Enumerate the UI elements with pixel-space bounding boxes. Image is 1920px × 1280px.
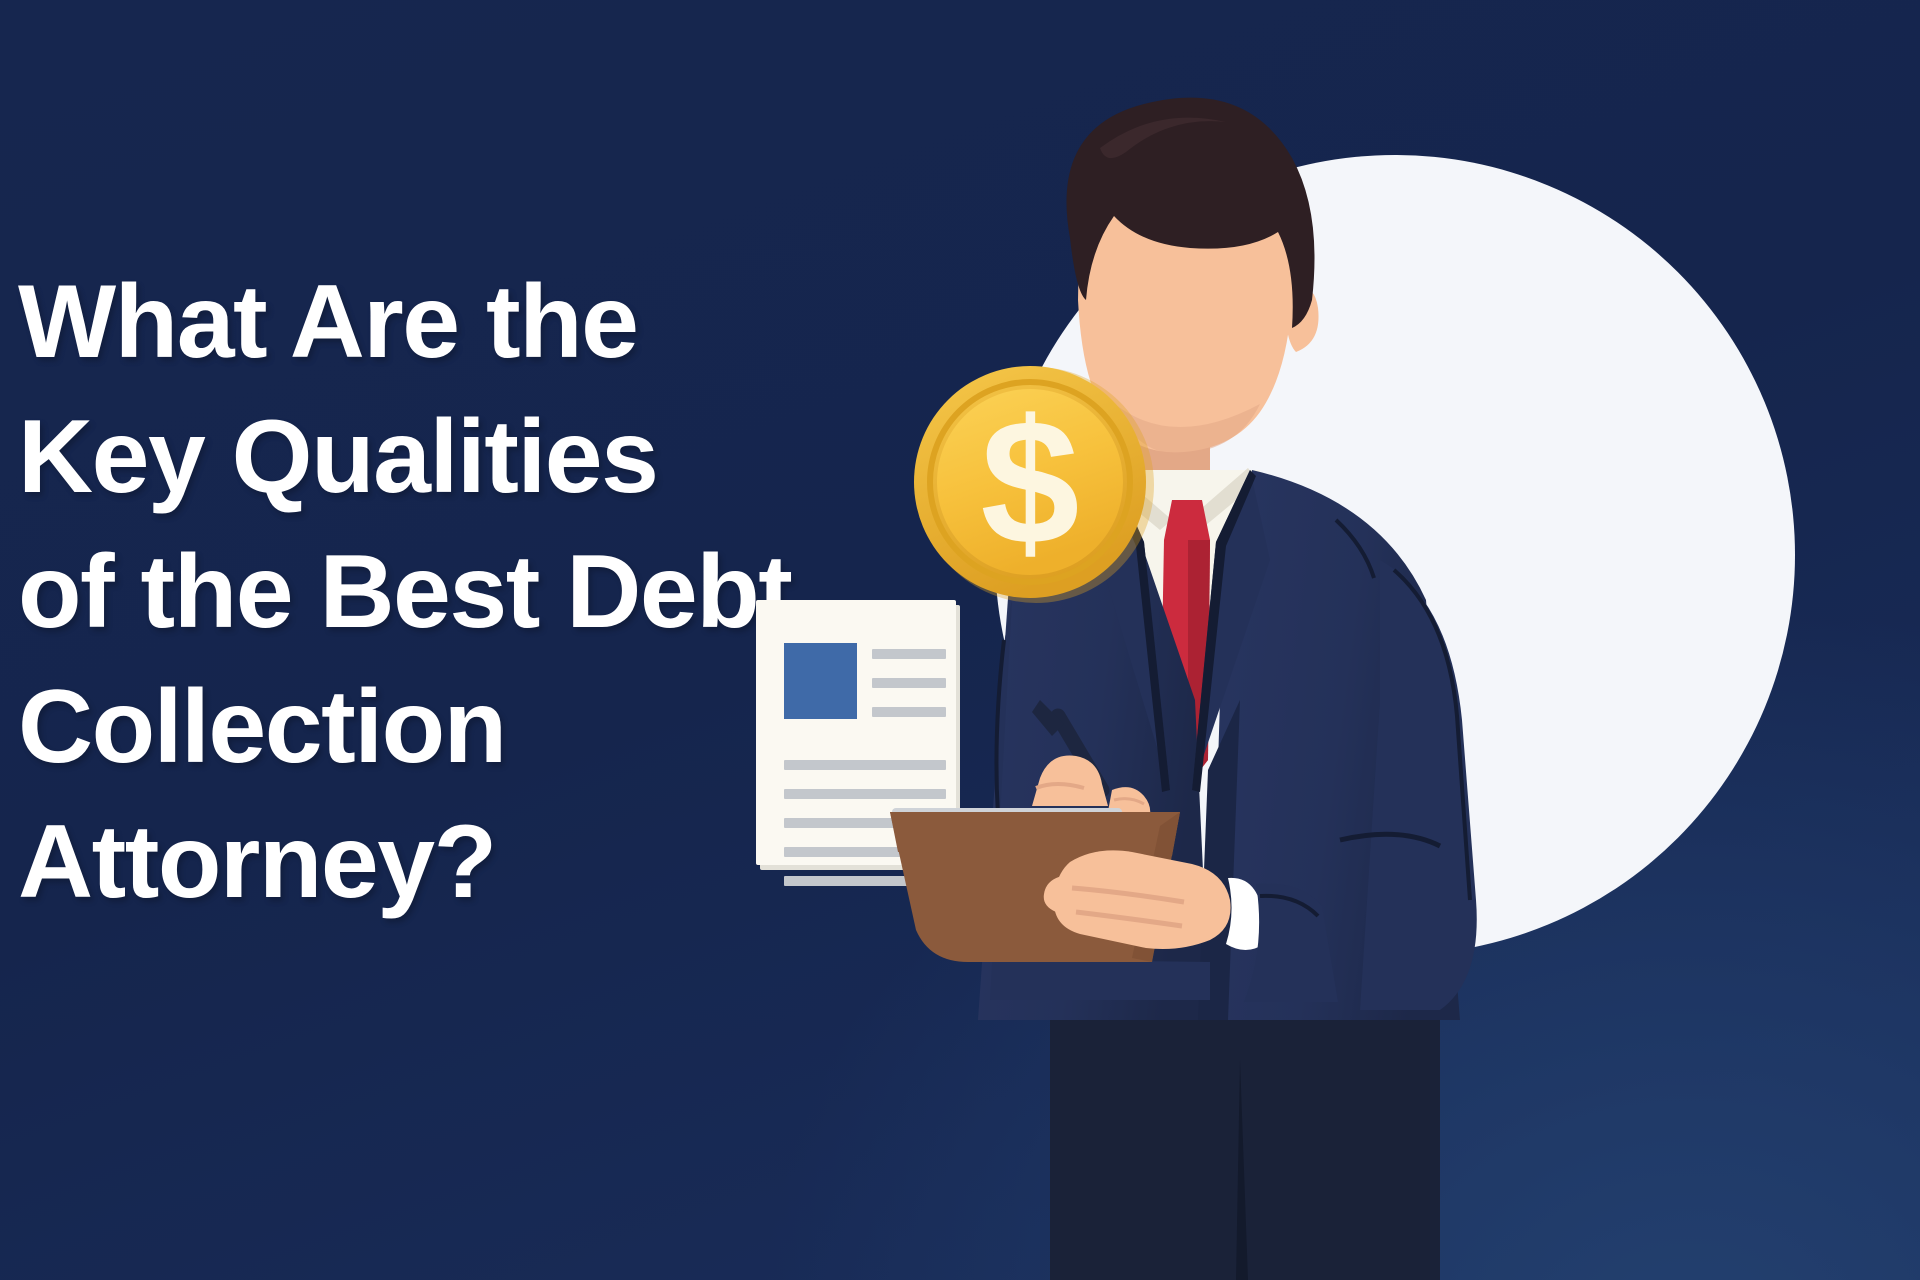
poster-canvas: What Are the Key Qualities of the Best D… <box>0 0 1920 1280</box>
dollar-coin: $ <box>914 366 1154 603</box>
hero-illustration: $ <box>740 0 1920 1280</box>
coin-dollar-symbol: $ <box>981 383 1080 582</box>
tie-knot <box>1164 500 1210 540</box>
document-thumbnail <box>784 643 857 719</box>
